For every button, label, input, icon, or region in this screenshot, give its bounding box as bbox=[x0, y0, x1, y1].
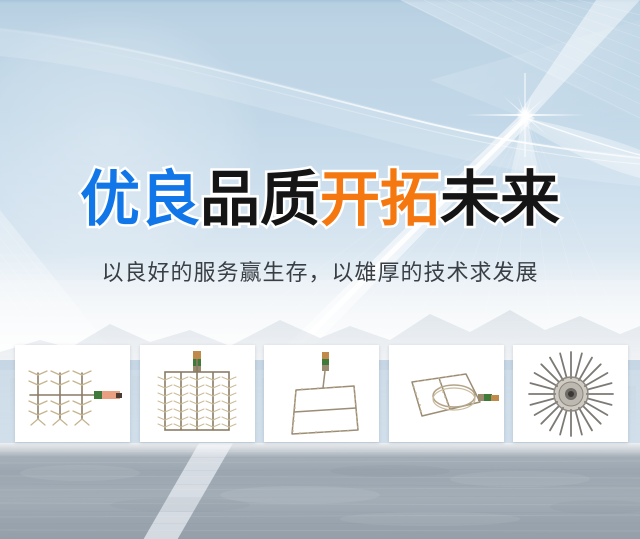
multi-branch-skewer-rack-icon bbox=[18, 349, 128, 439]
page-subtitle: 以良好的服务赢生存，以雄厚的技术求发展 bbox=[0, 258, 640, 288]
ground-floor bbox=[0, 443, 640, 539]
headline-segment-1: 优良 bbox=[80, 166, 200, 233]
square-frame-with-ring-icon bbox=[392, 354, 500, 434]
product-card-5[interactable] bbox=[513, 345, 628, 442]
radial-spike-wheel-icon bbox=[525, 350, 617, 438]
dense-tooth-drying-rack-icon bbox=[147, 348, 247, 440]
page-title: 优良品质开拓未来 bbox=[0, 166, 640, 234]
ground-texture bbox=[0, 443, 640, 539]
product-card-list bbox=[15, 345, 628, 442]
product-card-2[interactable] bbox=[140, 345, 255, 442]
product-card-3[interactable] bbox=[264, 345, 379, 442]
headline-segment-4: 未来 bbox=[440, 166, 560, 233]
headline-segment-3: 开拓 bbox=[320, 166, 440, 233]
product-card-1[interactable] bbox=[15, 345, 130, 442]
headline-segment-2: 品质 bbox=[200, 166, 320, 233]
product-card-4[interactable] bbox=[389, 345, 504, 442]
promo-banner: 优良品质开拓未来 以良好的服务赢生存，以雄厚的技术求发展 bbox=[0, 0, 640, 539]
two-panel-frame-rack-icon bbox=[274, 348, 370, 440]
